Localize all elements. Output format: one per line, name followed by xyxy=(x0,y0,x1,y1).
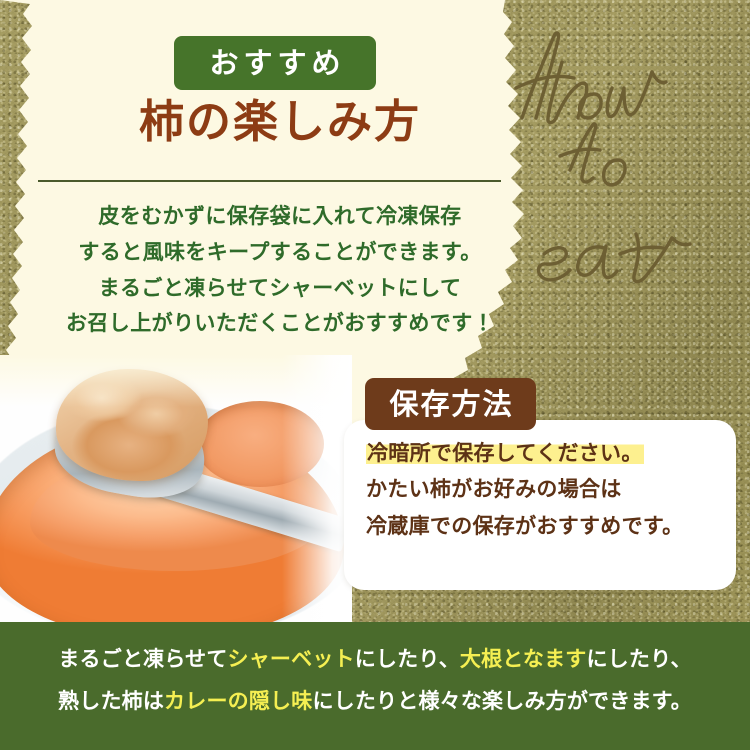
banner-row-2: 熟した柿はカレーの隠し味にしたりと様々な楽しみ方ができます。 xyxy=(0,690,750,712)
intro-paragraph: 皮をむかずに保存袋に入れて冷凍保存 すると風味をキープすることができます。 まる… xyxy=(0,202,560,345)
intro-line-4: お召し上がりいただくことがおすすめです！ xyxy=(0,309,560,339)
banner-r1-seg-0: まるごと凍らせて xyxy=(58,647,227,671)
promo-page: おすすめ 柿の楽しみ方 皮をむかずに保存袋に入れて冷凍保存 すると風味をキープす… xyxy=(0,0,750,750)
storage-method-badge-label: 保存方法 xyxy=(387,390,513,419)
storage-line-3: 冷蔵庫での保存がおすすめです。 xyxy=(366,511,720,541)
page-title: 柿の楽しみ方 xyxy=(0,99,560,144)
banner-r2-seg-0: 熟した柿は xyxy=(58,689,164,713)
storage-line-1-highlight: 冷暗所で保存してください。 xyxy=(366,441,644,465)
photo-right-fade xyxy=(282,355,352,623)
storage-line-2: かたい柿がお好みの場合は xyxy=(366,474,720,504)
storage-method-badge: 保存方法 xyxy=(365,378,536,430)
intro-line-1: 皮をむかずに保存袋に入れて冷凍保存 xyxy=(0,202,560,232)
recommended-badge: おすすめ xyxy=(174,36,376,90)
banner-r2-seg-1: カレーの隠し味 xyxy=(164,689,312,713)
storage-info-card: 冷暗所で保存してください。 かたい柿がお好みの場合は 冷蔵庫での保存がおすすめで… xyxy=(344,420,736,590)
banner-r1-seg-1: シャーベット xyxy=(228,647,355,671)
banner-row-1: まるごと凍らせてシャーベットにしたり、大根となますにしたり、 xyxy=(0,648,750,670)
title-divider xyxy=(38,180,501,182)
banner-r1-seg-3: 大根となます xyxy=(460,647,587,671)
recommended-badge-label: おすすめ xyxy=(204,49,345,78)
intro-line-3: まるごと凍らせてシャーベットにして xyxy=(0,274,560,304)
storage-line-1: 冷暗所で保存してください。 xyxy=(366,438,720,468)
persimmon-photo xyxy=(0,355,352,623)
banner-r2-seg-2: にしたりと様々な楽しみ方ができます。 xyxy=(312,689,692,713)
storage-card-lines: 冷暗所で保存してください。 かたい柿がお好みの場合は 冷蔵庫での保存がおすすめで… xyxy=(366,438,720,547)
bottom-banner: まるごと凍らせてシャーベットにしたり、大根となますにしたり、 熟した柿はカレーの… xyxy=(0,622,750,750)
intro-line-2: すると風味をキープすることができます。 xyxy=(0,238,560,268)
banner-r1-seg-4: にしたり、 xyxy=(586,647,691,671)
banner-r1-seg-2: にしたり、 xyxy=(355,647,460,671)
